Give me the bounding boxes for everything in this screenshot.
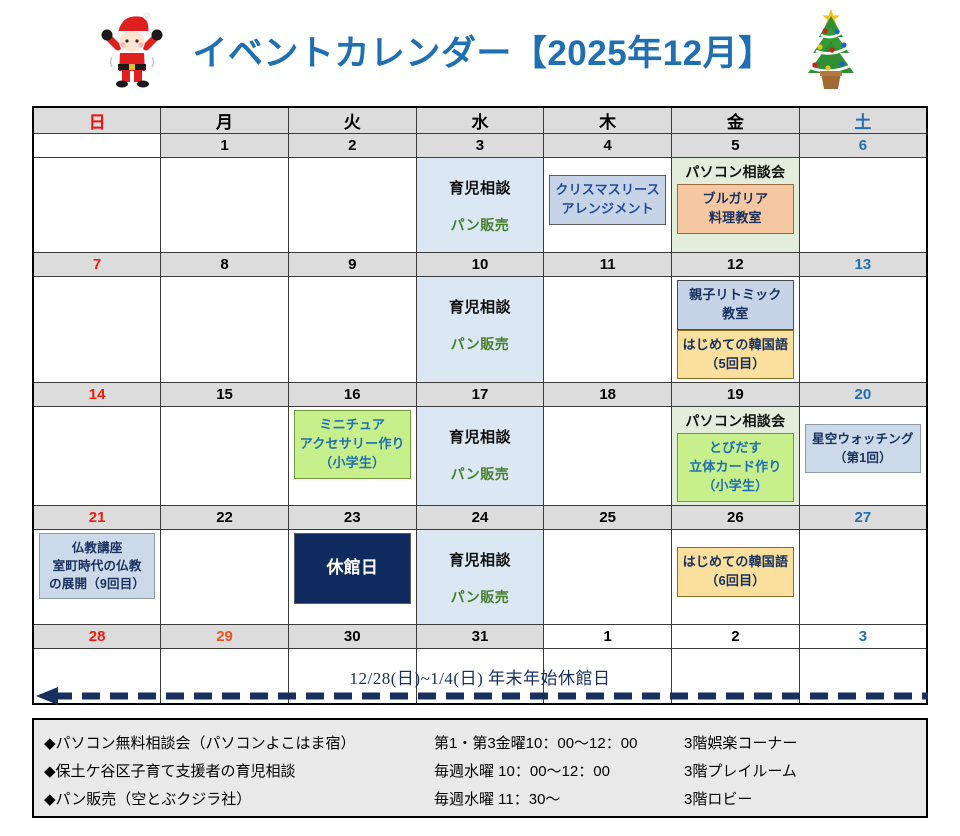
event-line-1: 親子リトミック bbox=[680, 286, 791, 305]
legend-footer: ◆パソコン無料相談会（パソコンよこはま宿） 第1・第3金曜10：00～12：00… bbox=[32, 718, 928, 818]
event-line-2: （6回目） bbox=[680, 572, 791, 591]
event-pan-hanbai: パン販売 bbox=[420, 334, 541, 354]
day-cell-w1-mon[interactable] bbox=[161, 158, 289, 253]
event-line-3: の展開（9回目） bbox=[42, 575, 152, 593]
date-cell-w2-sat[interactable]: 13 bbox=[799, 253, 927, 277]
date-cell-w2-sun[interactable]: 7 bbox=[33, 253, 161, 277]
legend-name: ◆パン販売（空とぶクジラ社） bbox=[44, 788, 434, 809]
event-ikuji-soudan: 育児相談 bbox=[420, 296, 541, 317]
date-cell-w5-sun[interactable]: 28 bbox=[33, 624, 161, 648]
event-line-1: 星空ウォッチング bbox=[808, 430, 918, 448]
date-row-week3: 14 15 16 17 18 19 20 bbox=[33, 383, 927, 407]
event-ikuji-soudan: 育児相談 bbox=[420, 177, 541, 198]
legend-time: 第1・第3金曜10：00～12：00 bbox=[434, 732, 684, 753]
event-line-1: ブルガリア bbox=[680, 190, 791, 209]
day-cell-w3-sun[interactable] bbox=[33, 407, 161, 506]
legend-name: ◆パソコン無料相談会（パソコンよこはま宿） bbox=[44, 732, 434, 753]
date-cell-w2-thu[interactable]: 11 bbox=[544, 253, 672, 277]
date-cell-w4-wed[interactable]: 24 bbox=[416, 505, 544, 529]
event-christmas-wreath[interactable]: クリスマスリース アレンジメント bbox=[549, 175, 666, 225]
day-cell-w1-wed[interactable]: 育児相談 パン販売 bbox=[416, 158, 544, 253]
date-cell-w3-sat[interactable]: 20 bbox=[799, 383, 927, 407]
page-header: イベントカレンダー【2025年12月】 bbox=[0, 0, 960, 100]
event-popup-card-making[interactable]: とびだす 立体カード作り （小学生） bbox=[677, 433, 794, 502]
event-korean-lesson-5[interactable]: はじめての韓国語 （5回目） bbox=[677, 330, 794, 380]
day-cell-w5-wed[interactable] bbox=[416, 648, 544, 704]
page-title: イベントカレンダー【2025年12月】 bbox=[192, 25, 773, 76]
date-cell-w3-fri[interactable]: 19 bbox=[672, 383, 800, 407]
date-cell-w4-thu[interactable]: 25 bbox=[544, 505, 672, 529]
day-cell-w3-sat[interactable]: 星空ウォッチング （第1回） bbox=[799, 407, 927, 506]
event-line-3: （小学生） bbox=[680, 477, 791, 496]
event-closed-day[interactable]: 休館日 bbox=[294, 533, 411, 604]
day-cell-w5-mon[interactable] bbox=[161, 648, 289, 704]
event-line-2: 立体カード作り bbox=[680, 458, 791, 477]
content-row-week1: 育児相談 パン販売 クリスマスリース アレンジメント パソコン相談会 ブルガリア… bbox=[33, 158, 927, 253]
day-cell-w1-sun[interactable] bbox=[33, 158, 161, 253]
event-ikuji-soudan: 育児相談 bbox=[420, 549, 541, 570]
event-line-1: はじめての韓国語 bbox=[680, 553, 791, 572]
day-cell-w2-mon[interactable] bbox=[161, 277, 289, 383]
day-cell-w2-sat[interactable] bbox=[799, 277, 927, 383]
event-pan-hanbai: パン販売 bbox=[420, 464, 541, 484]
event-line-1: クリスマスリース bbox=[552, 181, 663, 200]
date-cell-w1-thu[interactable]: 4 bbox=[544, 134, 672, 158]
day-cell-w5-sat[interactable] bbox=[799, 648, 927, 704]
content-row-week4: 仏教講座 室町時代の仏教 の展開（9回目） 休館日 育児相談 パン販売 はじめて… bbox=[33, 529, 927, 624]
day-cell-w3-mon[interactable] bbox=[161, 407, 289, 506]
christmas-tree-icon bbox=[800, 7, 862, 93]
date-row-week5: 28 29 30 31 1 2 3 bbox=[33, 624, 927, 648]
legend-name: ◆保土ケ谷区子育て支援者の育児相談 bbox=[44, 760, 434, 781]
event-pasocon-soudankai: パソコン相談会 bbox=[675, 411, 796, 431]
event-line-2: アクセサリー作り bbox=[297, 435, 408, 454]
date-cell-w2-fri[interactable]: 12 bbox=[672, 253, 800, 277]
weekday-monday: 月 bbox=[161, 107, 289, 134]
date-row-week4: 21 22 23 24 25 26 27 bbox=[33, 505, 927, 529]
day-cell-w4-tue[interactable]: 休館日 bbox=[288, 529, 416, 624]
weekday-wednesday: 水 bbox=[416, 107, 544, 134]
day-cell-w1-thu[interactable]: クリスマスリース アレンジメント bbox=[544, 158, 672, 253]
day-cell-w1-tue[interactable] bbox=[288, 158, 416, 253]
date-cell-w3-wed[interactable]: 17 bbox=[416, 383, 544, 407]
date-cell-w1-tue[interactable]: 2 bbox=[288, 134, 416, 158]
content-row-week3: ミニチュア アクセサリー作り （小学生） 育児相談 パン販売 パソコン相談会 と… bbox=[33, 407, 927, 506]
event-line-2: （5回目） bbox=[680, 355, 791, 374]
event-line-1: ミニチュア bbox=[297, 416, 408, 435]
date-cell-w1-sat[interactable]: 6 bbox=[799, 134, 927, 158]
weekday-saturday: 土 bbox=[799, 107, 927, 134]
event-line-1: 仏教講座 bbox=[42, 539, 152, 557]
event-korean-lesson-6[interactable]: はじめての韓国語 （6回目） bbox=[677, 547, 794, 597]
day-cell-w4-mon[interactable] bbox=[161, 529, 289, 624]
day-cell-w3-tue[interactable]: ミニチュア アクセサリー作り （小学生） bbox=[288, 407, 416, 506]
date-row-week2: 7 8 9 10 11 12 13 bbox=[33, 253, 927, 277]
content-row-week5 bbox=[33, 648, 927, 704]
day-cell-w2-thu[interactable] bbox=[544, 277, 672, 383]
date-cell-w5-wed[interactable]: 31 bbox=[416, 624, 544, 648]
date-cell-w4-tue[interactable]: 23 bbox=[288, 505, 416, 529]
event-pasocon-soudankai: パソコン相談会 bbox=[675, 162, 796, 182]
legend-time: 毎週水曜 10：00～12：00 bbox=[434, 760, 684, 781]
event-miniature-accessory[interactable]: ミニチュア アクセサリー作り （小学生） bbox=[294, 410, 411, 479]
date-cell-w5-sat[interactable]: 3 bbox=[799, 624, 927, 648]
event-line-3: （小学生） bbox=[297, 454, 408, 473]
date-cell-w4-mon[interactable]: 22 bbox=[161, 505, 289, 529]
day-cell-w4-sun[interactable]: 仏教講座 室町時代の仏教 の展開（9回目） bbox=[33, 529, 161, 624]
event-line-1: とびだす bbox=[680, 439, 791, 458]
day-cell-w3-fri[interactable]: パソコン相談会 とびだす 立体カード作り （小学生） bbox=[672, 407, 800, 506]
event-line-2: （第1回） bbox=[808, 449, 918, 467]
date-cell-w1-fri[interactable]: 5 bbox=[672, 134, 800, 158]
event-oyako-rhythmic[interactable]: 親子リトミック 教室 bbox=[677, 280, 794, 330]
weekday-thursday: 木 bbox=[544, 107, 672, 134]
day-cell-w5-thu[interactable] bbox=[544, 648, 672, 704]
date-cell-w4-fri[interactable]: 26 bbox=[672, 505, 800, 529]
event-line-2: 室町時代の仏教 bbox=[42, 557, 152, 575]
day-cell-w2-tue[interactable] bbox=[288, 277, 416, 383]
event-pan-hanbai: パン販売 bbox=[420, 215, 541, 235]
event-buddhism-lecture[interactable]: 仏教講座 室町時代の仏教 の展開（9回目） bbox=[39, 533, 155, 599]
date-cell-w5-mon[interactable]: 29 bbox=[161, 624, 289, 648]
date-cell-w5-thu[interactable]: 1 bbox=[544, 624, 672, 648]
date-row-week1: 1 2 3 4 5 6 bbox=[33, 134, 927, 158]
legend-row-pan: ◆パン販売（空とぶクジラ社） 毎週水曜 11：30～ 3階ロビー bbox=[44, 784, 916, 812]
weekday-friday: 金 bbox=[672, 107, 800, 134]
date-cell-w1-wed[interactable]: 3 bbox=[416, 134, 544, 158]
day-cell-w4-wed[interactable]: 育児相談 パン販売 bbox=[416, 529, 544, 624]
day-cell-w4-fri[interactable]: はじめての韓国語 （6回目） bbox=[672, 529, 800, 624]
weekday-tuesday: 火 bbox=[288, 107, 416, 134]
date-cell-w2-mon[interactable]: 8 bbox=[161, 253, 289, 277]
event-line-2: 料理教室 bbox=[680, 209, 791, 228]
event-line-1: はじめての韓国語 bbox=[680, 336, 791, 355]
day-cell-w2-wed[interactable]: 育児相談 パン販売 bbox=[416, 277, 544, 383]
date-cell-w1-mon[interactable]: 1 bbox=[161, 134, 289, 158]
legend-row-pasocon: ◆パソコン無料相談会（パソコンよこはま宿） 第1・第3金曜10：00～12：00… bbox=[44, 728, 916, 756]
date-cell-w1-sun[interactable] bbox=[33, 134, 161, 158]
event-calendar-page: イベントカレンダー【2025年12月】 bbox=[0, 0, 960, 836]
day-cell-w1-fri[interactable]: パソコン相談会 ブルガリア 料理教室 bbox=[672, 158, 800, 253]
date-cell-w2-wed[interactable]: 10 bbox=[416, 253, 544, 277]
day-cell-w3-thu[interactable] bbox=[544, 407, 672, 506]
date-cell-w3-mon[interactable]: 15 bbox=[161, 383, 289, 407]
day-cell-w3-wed[interactable]: 育児相談 パン販売 bbox=[416, 407, 544, 506]
event-line-2: アレンジメント bbox=[552, 200, 663, 219]
legend-place: 3階娯楽コーナー bbox=[684, 732, 916, 753]
content-row-week2: 育児相談 パン販売 親子リトミック 教室 はじめての韓国語 （5回目） bbox=[33, 277, 927, 383]
day-cell-w4-sat[interactable] bbox=[799, 529, 927, 624]
event-stargazing[interactable]: 星空ウォッチング （第1回） bbox=[805, 424, 921, 472]
event-ikuji-soudan: 育児相談 bbox=[420, 426, 541, 447]
legend-place: 3階プレイルーム bbox=[684, 760, 916, 781]
day-cell-w5-tue[interactable] bbox=[288, 648, 416, 704]
weekday-sunday: 日 bbox=[33, 107, 161, 134]
date-cell-w2-tue[interactable]: 9 bbox=[288, 253, 416, 277]
weekday-header-row: 日 月 火 水 木 金 土 bbox=[33, 107, 927, 134]
date-cell-w3-thu[interactable]: 18 bbox=[544, 383, 672, 407]
day-cell-w5-sun[interactable] bbox=[33, 648, 161, 704]
legend-time: 毎週水曜 11：30～ bbox=[434, 788, 684, 809]
date-cell-w5-tue[interactable]: 30 bbox=[288, 624, 416, 648]
date-cell-w4-sat[interactable]: 27 bbox=[799, 505, 927, 529]
event-pan-hanbai: パン販売 bbox=[420, 587, 541, 607]
date-cell-w4-sun[interactable]: 21 bbox=[33, 505, 161, 529]
day-cell-w2-sun[interactable] bbox=[33, 277, 161, 383]
day-cell-w4-thu[interactable] bbox=[544, 529, 672, 624]
event-bulgaria-cooking[interactable]: ブルガリア 料理教室 bbox=[677, 184, 794, 234]
legend-place: 3階ロビー bbox=[684, 788, 916, 809]
date-cell-w3-tue[interactable]: 16 bbox=[288, 383, 416, 407]
santa-icon bbox=[98, 11, 166, 89]
date-cell-w3-sun[interactable]: 14 bbox=[33, 383, 161, 407]
date-cell-w5-fri[interactable]: 2 bbox=[672, 624, 800, 648]
calendar-table: 日 月 火 水 木 金 土 1 2 3 4 5 6 育児相談 パン販売 bbox=[32, 106, 928, 705]
day-cell-w5-fri[interactable] bbox=[672, 648, 800, 704]
day-cell-w1-sat[interactable] bbox=[799, 158, 927, 253]
legend-row-ikuji: ◆保土ケ谷区子育て支援者の育児相談 毎週水曜 10：00～12：00 3階プレイ… bbox=[44, 756, 916, 784]
event-line-2: 教室 bbox=[680, 305, 791, 324]
day-cell-w2-fri[interactable]: 親子リトミック 教室 はじめての韓国語 （5回目） bbox=[672, 277, 800, 383]
